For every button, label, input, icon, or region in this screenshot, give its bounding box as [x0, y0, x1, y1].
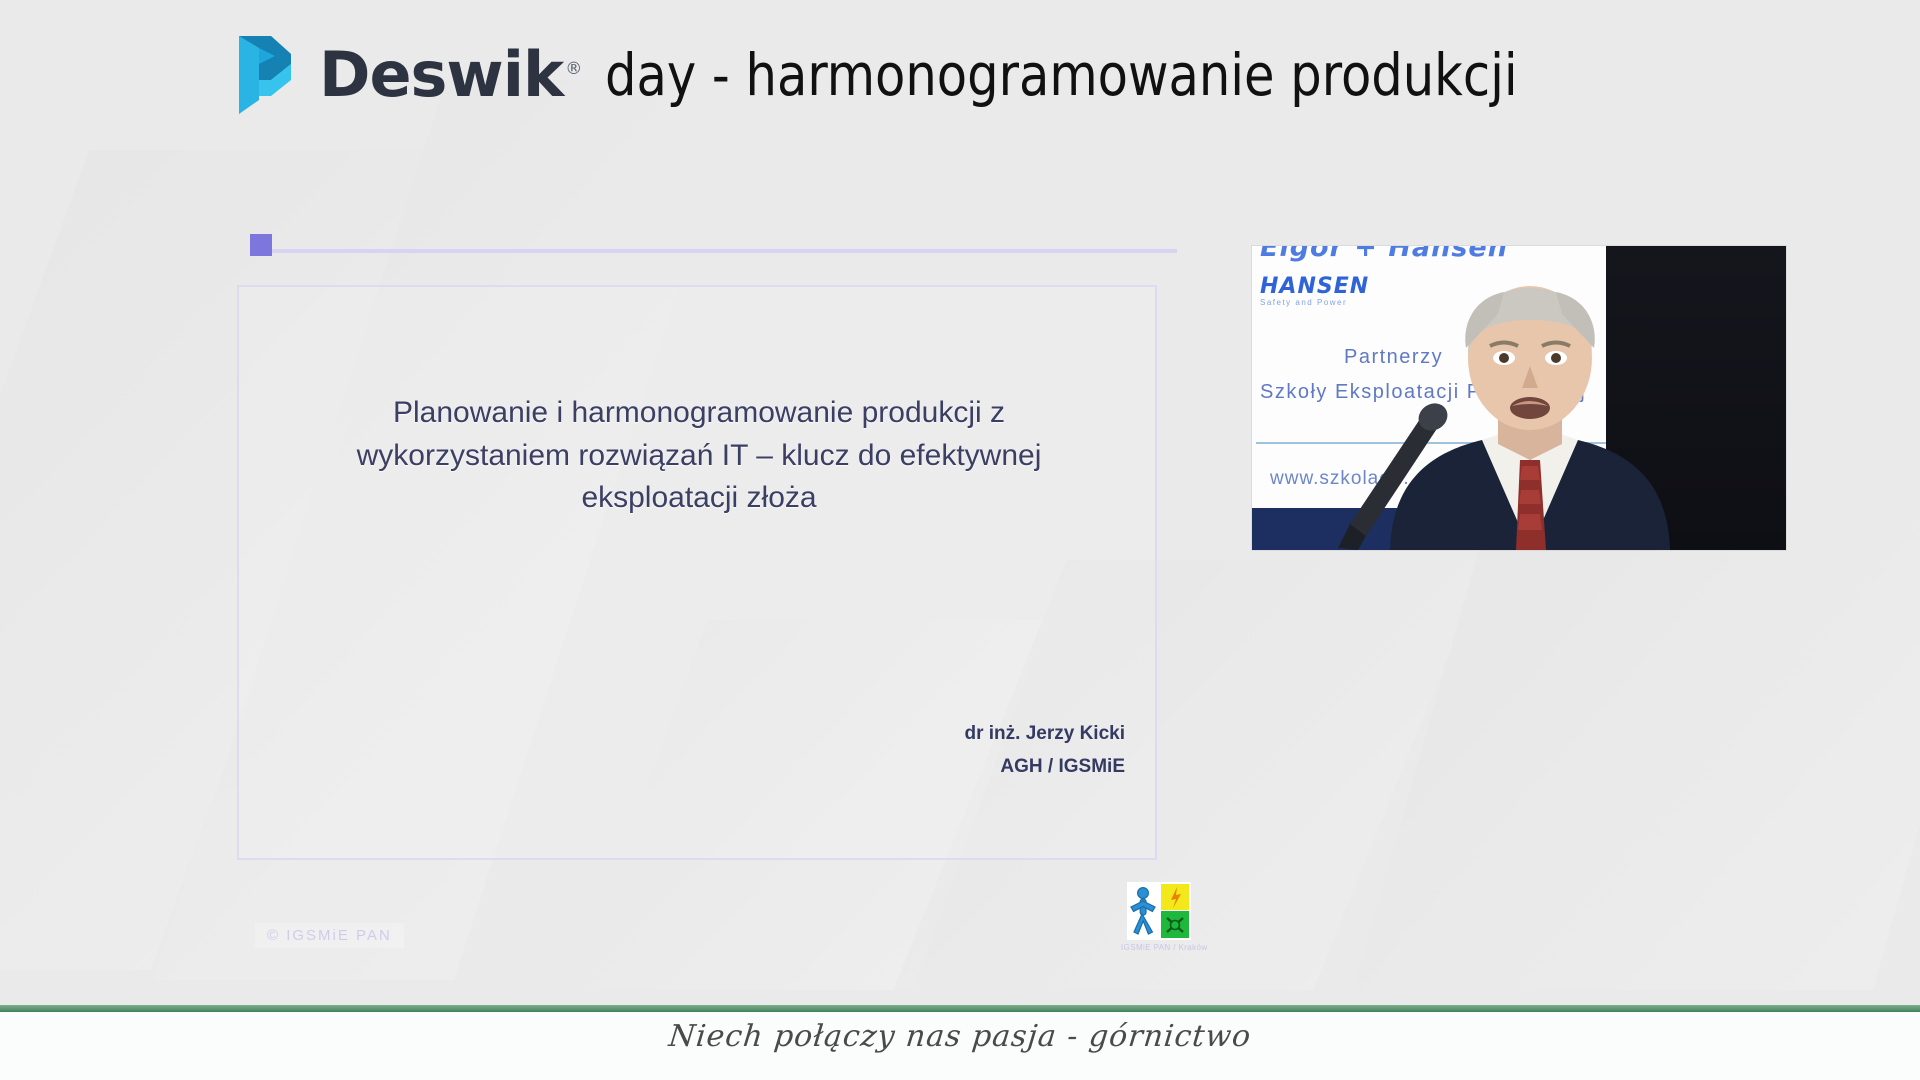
presentation-screen: Deswik® day - harmonogramowanie produkcj…	[0, 0, 1920, 1080]
slide-logo-caption: IGSMiE PAN / Kraków	[1121, 943, 1197, 952]
slide-header-divider	[272, 249, 1177, 253]
registered-trademark-icon: ®	[565, 59, 581, 79]
slide-heading-line-1: Planowanie i harmonogramowanie produkcji…	[294, 392, 1104, 435]
author-name: dr inż. Jerzy Kicki	[964, 717, 1125, 750]
bottom-banner: Niech połączy nas pasja - górnictwo	[0, 1005, 1920, 1080]
slide-logo-block: IGSMiE PAN / Kraków	[1121, 882, 1197, 952]
background-watermark-shape	[1353, 520, 1920, 990]
backdrop-brand-top-text: Elgór + Hansen	[1260, 246, 1630, 263]
slide-content-box: Planowanie i harmonogramowanie produkcji…	[237, 285, 1157, 860]
deswik-logo-icon	[237, 34, 299, 116]
brand-lockup: Deswik® day - harmonogramowanie produkcj…	[237, 34, 1566, 116]
brand-name-text: Deswik	[319, 38, 563, 111]
speaker-video-tile[interactable]: Elgór + Hansen HANSEN Safety and Power P…	[1252, 246, 1786, 550]
author-affiliation: AGH / IGSMiE	[964, 750, 1125, 783]
slide-heading-line-2: wykorzystaniem rozwiązań IT – klucz do e…	[294, 435, 1104, 478]
igsmie-pan-logo-icon	[1127, 882, 1191, 940]
slide-header-rule-row	[237, 230, 1187, 258]
page-title: day - harmonogramowanie produkcji	[605, 46, 1518, 104]
backdrop-brand-subtitle: Safety and Power	[1260, 298, 1347, 307]
banner-green-divider	[0, 1005, 1920, 1012]
microphone-icon	[1330, 402, 1450, 550]
slide-preview[interactable]: Planowanie i harmonogramowanie produkcji…	[237, 230, 1187, 910]
slide-copyright-text: © IGSMiE PAN	[255, 923, 404, 948]
backdrop-brand-text: HANSEN	[1260, 274, 1369, 299]
slide-bullet-marker	[250, 234, 272, 256]
slide-author-block: dr inż. Jerzy Kicki AGH / IGSMiE	[964, 717, 1125, 784]
slide-heading-line-3: eksploatacji złoża	[294, 477, 1104, 520]
slide-heading: Planowanie i harmonogramowanie produkcji…	[294, 392, 1104, 520]
brand-wordmark: Deswik®	[319, 44, 581, 106]
banner-tagline: Niech połączy nas pasja - górnictwo	[0, 1019, 1920, 1054]
header-bar: Deswik® day - harmonogramowanie produkcj…	[0, 0, 1920, 150]
